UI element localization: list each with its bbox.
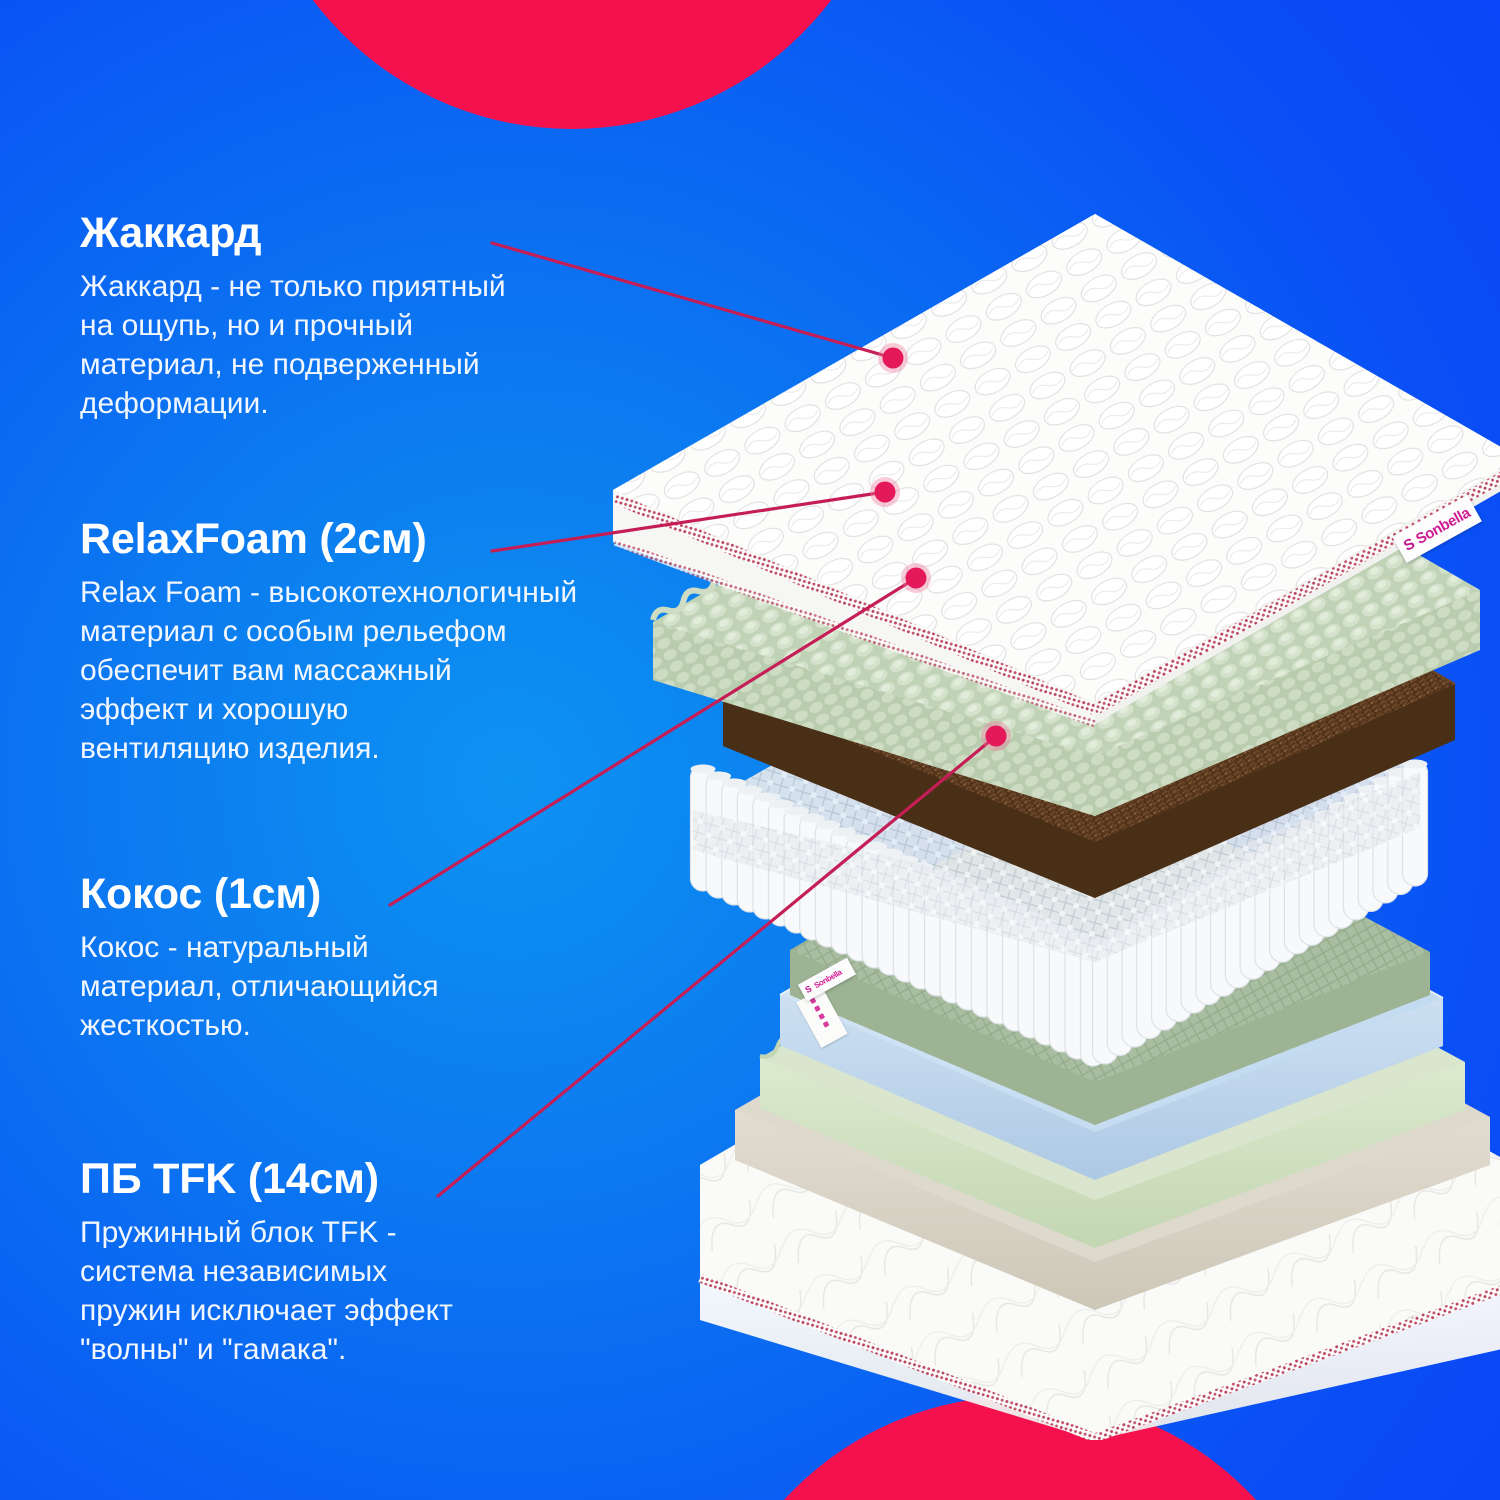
callout-description-jacquard: Жаккард - не только приятный на ощупь, н… [80,267,560,423]
care-symbol-icon [818,1013,825,1020]
callout-title-relaxfoam: RelaxFoam (2см) [80,518,625,562]
pocket-spring-top [831,828,856,837]
mattress-cutaway-illustration: S Sonbella S Sonbella [575,150,1500,1440]
infographic-poster: S Sonbella S Sonbella [0,0,1500,1500]
callout-title-coconut: Кокос (1см) [80,873,510,917]
decorative-circle-top [247,0,897,129]
pocket-spring-top [815,821,840,830]
brand-mark-icon: S [804,984,814,995]
callout-title-tfk: ПБ TFK (14см) [80,1158,520,1202]
callout-block-jacquard: Жаккард Жаккард - не только приятный на … [80,212,560,423]
care-symbol-icon [822,1021,829,1028]
callout-block-coconut: Кокос (1см) Кокос - натуральный материал… [80,873,510,1045]
pocket-spring-top [722,779,747,788]
pocket-spring-top [862,842,887,851]
pocket-spring-top [737,786,762,795]
pocket-spring-top [769,800,794,809]
callout-description-tfk: Пружинный блок TFK - система независимых… [80,1213,520,1369]
callout-block-relaxfoam: RelaxFoam (2см) Relax Foam - высокотехно… [80,518,625,768]
pocket-spring-top [784,807,809,816]
callout-description-coconut: Кокос - натуральный материал, отличающий… [80,928,510,1045]
callout-title-jacquard: Жаккард [80,212,560,256]
brand-mark-icon: S [1401,536,1417,554]
pocket-spring-top [800,814,825,823]
callout-description-relaxfoam: Relax Foam - высокотехнологичный материа… [80,573,625,768]
care-symbol-icon [814,1005,821,1012]
pocket-spring-top [753,793,778,802]
pocket-spring-top [706,772,731,781]
pocket-spring-top [691,765,716,774]
pocket-spring-top [847,835,872,844]
callout-block-tfk: ПБ TFK (14см) Пружинный блок TFK - систе… [80,1158,520,1369]
